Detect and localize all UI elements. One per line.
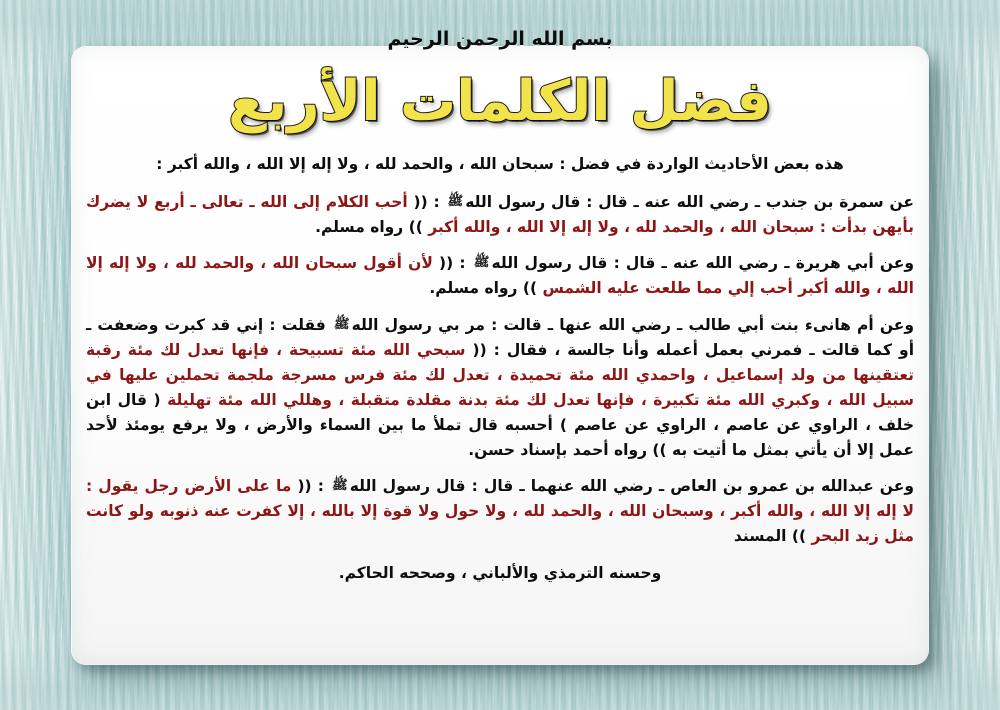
hadith-umm-hani-narrator: وعن أم هانىء بنت أبي طالب ـ رضي الله عنه… <box>352 316 914 334</box>
hadith-abu-hurayra-narrator: وعن أبي هريرة ـ رضي الله عنه ـ قال : قال… <box>491 254 914 272</box>
hadith-abdullah-source: )) المسند <box>734 527 812 545</box>
salla-icon: ﷺ <box>332 317 352 332</box>
hadith-samura-opener: : (( <box>408 193 446 211</box>
hadith-abdullah-narrator: وعن عبدالله بن عمرو بن العاص ـ رضي الله … <box>350 477 914 495</box>
intro-line: هذه بعض الأحاديث الواردة في فضل : سبحان … <box>86 152 914 177</box>
hadith-umm-hani: وعن أم هانىء بنت أبي طالب ـ رضي الله عنه… <box>86 313 914 464</box>
hadith-abdullah-opener: : (( <box>291 477 330 495</box>
hadith-samura-narrator: عن سمرة بن جندب ـ رضي الله عنه ـ قال : ق… <box>465 193 914 211</box>
page-title: فضل الكلمات الأربع <box>0 70 1000 134</box>
salla-icon: ﷺ <box>472 255 492 270</box>
hadith-samura: عن سمرة بن جندب ـ رضي الله عنه ـ قال : ق… <box>86 190 914 240</box>
hadith-abdullah-ibn-amr: وعن عبدالله بن عمرو بن العاص ـ رضي الله … <box>86 474 914 549</box>
salla-icon: ﷺ <box>445 194 465 209</box>
hadith-samura-source: )) رواه مسلم. <box>315 218 428 236</box>
basmala-header: بسم الله الرحمن الرحيم <box>0 28 1000 50</box>
salla-icon: ﷺ <box>330 478 350 493</box>
hadith-abu-hurayra: وعن أبي هريرة ـ رضي الله عنه ـ قال : قال… <box>86 251 914 301</box>
hadith-abu-hurayra-source: )) رواه مسلم. <box>429 279 542 297</box>
document-body: هذه بعض الأحاديث الواردة في فضل : سبحان … <box>86 152 914 597</box>
final-grading-line: وحسنه الترمذي والألباني ، وصححه الحاكم. <box>86 561 914 586</box>
hadith-abu-hurayra-opener: : (( <box>433 254 472 272</box>
